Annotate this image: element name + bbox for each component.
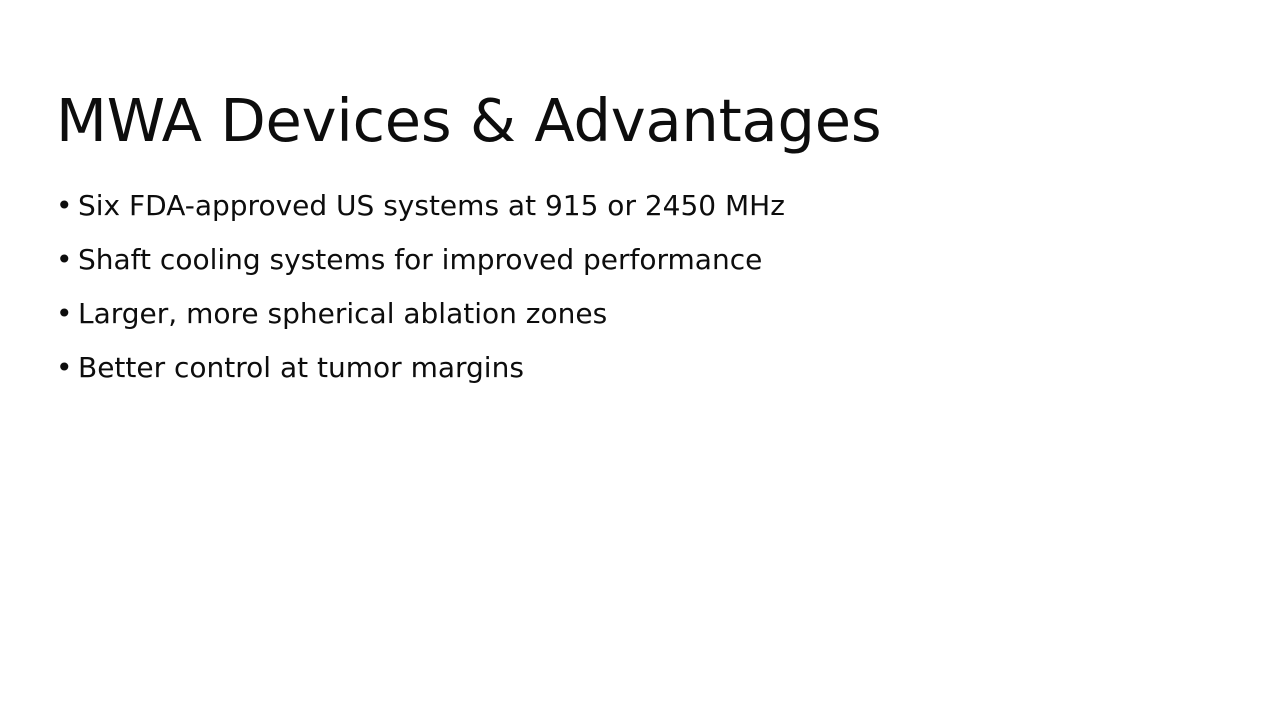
- list-item: • Shaft cooling systems for improved per…: [56, 238, 1216, 292]
- bullet-text: Shaft cooling systems for improved perfo…: [78, 238, 762, 282]
- list-item: • Better control at tumor margins: [56, 346, 1216, 400]
- bullet-text: Six FDA-approved US systems at 915 or 24…: [78, 184, 785, 228]
- presentation-slide: MWA Devices & Advantages • Six FDA-appro…: [0, 0, 1280, 720]
- list-item: • Six FDA-approved US systems at 915 or …: [56, 184, 1216, 238]
- bullet-point-icon: •: [56, 238, 78, 282]
- bullet-text: Larger, more spherical ablation zones: [78, 292, 607, 336]
- page-title: MWA Devices & Advantages: [56, 88, 1206, 154]
- bullet-point-icon: •: [56, 346, 78, 390]
- bullet-text: Better control at tumor margins: [78, 346, 524, 390]
- list-item: • Larger, more spherical ablation zones: [56, 292, 1216, 346]
- bullet-list: • Six FDA-approved US systems at 915 or …: [56, 184, 1216, 400]
- bullet-point-icon: •: [56, 184, 78, 228]
- bullet-point-icon: •: [56, 292, 78, 336]
